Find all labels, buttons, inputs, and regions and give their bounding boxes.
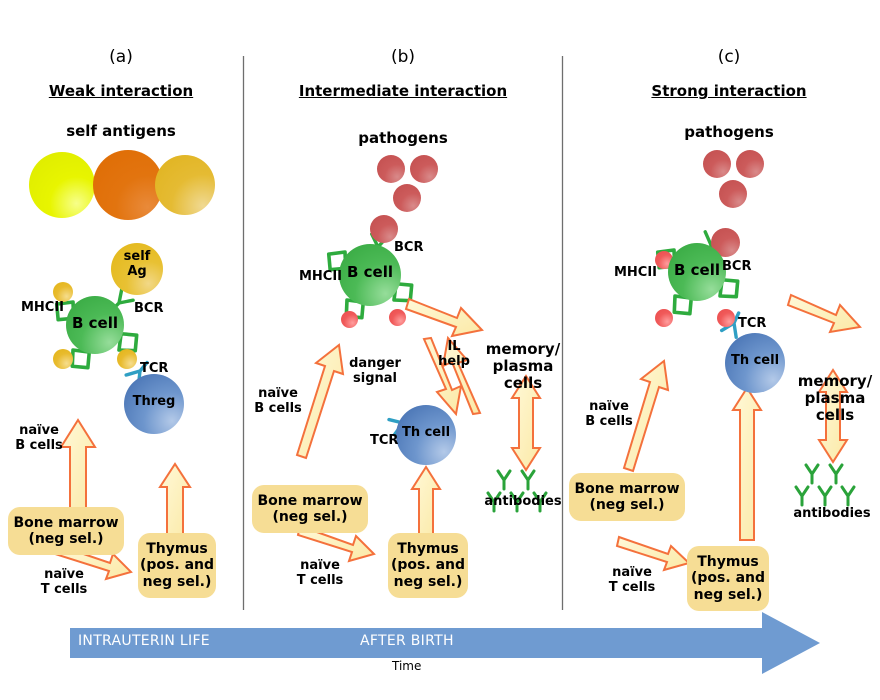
epitope-ball bbox=[53, 282, 73, 302]
memory-plasma-label: memory/plasmacells bbox=[789, 373, 880, 423]
arrow-to-memory-plasma bbox=[788, 295, 860, 332]
danger-signal-label: dangersignal bbox=[342, 357, 408, 386]
timeline-label-intrauterin: INTRAUTERIN LIFE bbox=[78, 633, 210, 649]
b-cell-label: B cell bbox=[66, 315, 124, 332]
b-cell-label: B cell bbox=[339, 264, 401, 281]
pathogen bbox=[410, 155, 438, 183]
self-antigen-circle bbox=[155, 155, 215, 215]
memory-plasma-label: memory/plasmacells bbox=[477, 341, 569, 391]
naive-b-cells-label: naïveB cells bbox=[8, 424, 70, 453]
panel-letter-c: (c) bbox=[668, 48, 790, 67]
bone-marrow-box: Bone marrow(neg sel.) bbox=[8, 507, 124, 555]
thymus-box: Thymus(pos. andneg sel.) bbox=[687, 546, 769, 611]
arrow-t-to-thymus-up bbox=[412, 467, 440, 537]
pathogen-bound-bcr bbox=[370, 215, 398, 243]
panel-letter-a: (a) bbox=[60, 48, 182, 67]
tcr-label: TCR bbox=[140, 362, 180, 377]
mhcii-label: MHCII bbox=[14, 301, 64, 316]
arrow-t-to-thymus-up bbox=[160, 464, 190, 540]
arrow-t-to-thymus-up bbox=[733, 388, 761, 540]
self-antigen-circle bbox=[29, 152, 95, 218]
b-cell-label: B cell bbox=[668, 262, 726, 279]
timeline-label-after-birth: AFTER BIRTH bbox=[360, 633, 454, 649]
epitope-ball bbox=[341, 311, 358, 328]
timeline-axis-label: Time bbox=[392, 659, 421, 673]
naive-t-cells-label: naïveT cells bbox=[601, 566, 663, 595]
tcr-label: TCR bbox=[370, 434, 408, 449]
il-help-label: ILhelp bbox=[433, 340, 475, 369]
bcr-label: BCR bbox=[722, 260, 766, 275]
arrow-to-memory-plasma bbox=[406, 299, 482, 336]
mhcii-label: MHCII bbox=[290, 270, 342, 285]
tcr-label: TCR bbox=[738, 317, 776, 332]
epitope-ball bbox=[53, 349, 73, 369]
pathogen bbox=[393, 184, 421, 212]
self-antigen-circle bbox=[93, 150, 163, 220]
antibody-cluster bbox=[796, 465, 854, 505]
epitope-ball bbox=[655, 309, 673, 327]
bcr-label: BCR bbox=[394, 241, 438, 256]
panel-title-c: Strong interaction bbox=[636, 83, 822, 100]
panel-title-b: Intermediate interaction bbox=[293, 83, 513, 100]
bone-marrow-box: Bone marrow(neg sel.) bbox=[252, 485, 368, 533]
th-cell-label: Th cell bbox=[723, 354, 787, 369]
pathogen bbox=[703, 150, 731, 178]
mhcii-label: MHCII bbox=[605, 266, 657, 281]
pathogen bbox=[719, 180, 747, 208]
panel-letter-b: (b) bbox=[343, 48, 463, 67]
epitope-ball bbox=[717, 309, 735, 327]
pathogen bbox=[736, 150, 764, 178]
pathogens-header: pathogens bbox=[658, 124, 800, 141]
pathogens-header: pathogens bbox=[332, 130, 474, 147]
naive-t-cells-label: naïveT cells bbox=[33, 568, 95, 597]
epitope-ball bbox=[389, 309, 406, 326]
threg-cell-label: Threg bbox=[122, 395, 186, 410]
pathogen bbox=[377, 155, 405, 183]
epitope-ball bbox=[117, 349, 137, 369]
antibodies-label: antibodies bbox=[786, 507, 878, 522]
naive-b-cells-label: naïveB cells bbox=[247, 387, 309, 416]
bcr-label: BCR bbox=[134, 302, 178, 317]
thymus-box: Thymus(pos. andneg sel.) bbox=[388, 533, 468, 598]
self-antigens-header: self antigens bbox=[41, 123, 201, 140]
naive-b-cells-label: naïveB cells bbox=[578, 400, 640, 429]
naive-t-cells-label: naïveT cells bbox=[289, 559, 351, 588]
thymus-box: Thymus(pos. andneg sel.) bbox=[138, 533, 216, 598]
bone-marrow-box: Bone marrow(neg sel.) bbox=[569, 473, 685, 521]
antibodies-label: antibodies bbox=[477, 495, 569, 510]
self-ag-label: selfAg bbox=[111, 250, 163, 279]
figure-canvas: selfAg B cell Threg B cell Th cell B cel… bbox=[0, 0, 880, 700]
panel-title-a: Weak interaction bbox=[36, 83, 206, 100]
